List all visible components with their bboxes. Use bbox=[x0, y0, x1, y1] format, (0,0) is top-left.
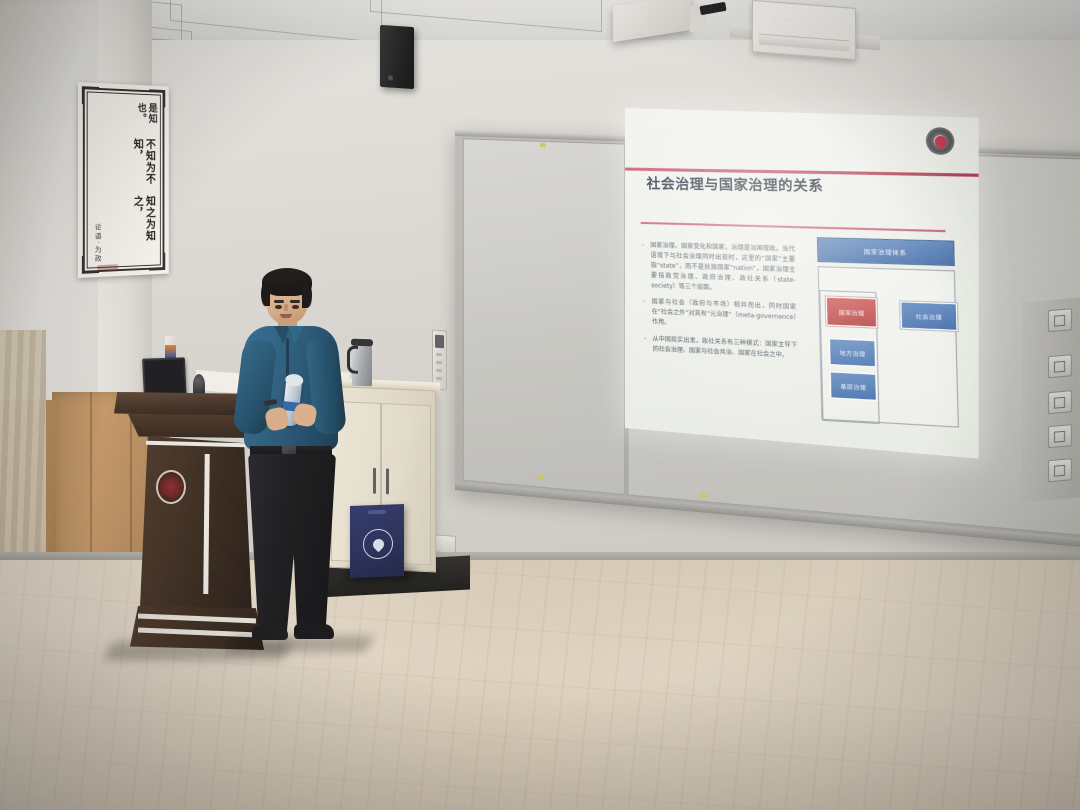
slide-bullet: 国家治理、国家变化和国家，治理是治国理政。当代语境下与社会治理同时出现时，这里的… bbox=[641, 241, 796, 296]
slide-bullet-list: 国家治理、国家变化和国家，治理是治国理政。当代语境下与社会治理同时出现时，这里的… bbox=[641, 235, 798, 369]
poster-seal bbox=[97, 264, 118, 271]
diagram-header-box: 国家治理体系 bbox=[817, 237, 955, 266]
wall-speaker bbox=[380, 25, 414, 89]
poster-line-3: 是知也。 bbox=[91, 101, 156, 136]
lecture-hall-photo: 知之为知之， 不知为不知， 是知也。 论语·为政 · · · · · 社会治理与… bbox=[0, 0, 1080, 810]
projected-slide: 社会治理与国家治理的关系 国家治理、国家变化和国家，治理是治国理政。当代语境下与… bbox=[625, 108, 979, 459]
eyebrow bbox=[290, 300, 300, 303]
diagram-box-grassroots-governance: 基层治理 bbox=[830, 371, 877, 401]
poster-corner-icon bbox=[149, 253, 165, 271]
poster-line-2: 不知为不知， bbox=[91, 137, 156, 193]
slide-bullet: 从中国现实出发，政社关系有三种模式：国家主导下的社会治理、国家与社会共治、国家在… bbox=[644, 334, 798, 361]
navy-tote-bag[interactable] bbox=[350, 504, 404, 578]
remote-button[interactable] bbox=[436, 377, 442, 380]
ac-vent bbox=[759, 33, 849, 51]
wall-air-conditioner: · · · · · bbox=[752, 0, 856, 60]
speaker-led-icon bbox=[388, 75, 393, 80]
shoe bbox=[252, 626, 288, 640]
control-panel-button[interactable] bbox=[1048, 308, 1072, 332]
whiteboard-panel-left[interactable] bbox=[463, 138, 625, 495]
hair-side bbox=[261, 282, 270, 306]
diagram-box-state-governance: 国家治理 bbox=[826, 296, 878, 327]
control-panel-button[interactable] bbox=[1048, 458, 1072, 482]
poster-attribution: 论语·为政 bbox=[93, 223, 103, 263]
wall-control-panel[interactable] bbox=[1022, 297, 1080, 502]
eye bbox=[292, 305, 299, 309]
shoe bbox=[294, 624, 334, 639]
whiteboard-magnet[interactable] bbox=[538, 475, 544, 480]
control-panel-button[interactable] bbox=[1048, 390, 1072, 414]
governance-diagram: 国家治理体系 国家治理 社会治理 地方治理 基层治理 bbox=[813, 237, 961, 428]
whiteboard-magnet[interactable] bbox=[700, 494, 706, 499]
slide-bullet: 国家与社会（政府与市场）相异而出，同时国家在“社会之外”对其有“元治理”（met… bbox=[643, 297, 797, 333]
nose bbox=[284, 304, 288, 311]
ac-brand-label: · · · · · bbox=[775, 17, 798, 25]
eye bbox=[275, 305, 282, 309]
tote-university-emblem-icon bbox=[363, 528, 393, 559]
presenter-trousers bbox=[248, 454, 336, 634]
bottle-label bbox=[165, 345, 176, 358]
whiteboard-magnet[interactable] bbox=[540, 143, 546, 147]
remote-button[interactable] bbox=[436, 353, 442, 356]
eyebrow bbox=[274, 300, 284, 303]
remote-button[interactable] bbox=[436, 361, 442, 364]
remote-display bbox=[435, 335, 444, 349]
control-panel-button[interactable] bbox=[1048, 424, 1072, 448]
hair-side bbox=[302, 282, 312, 308]
diagram-outer-frame: 国家治理 社会治理 地方治理 基层治理 bbox=[818, 266, 959, 428]
wall-remote-holder[interactable] bbox=[432, 329, 447, 390]
calligraphy-poster: 知之为知之， 不知为不知， 是知也。 论语·为政 bbox=[78, 82, 169, 278]
diagram-box-social-governance: 社会治理 bbox=[900, 301, 957, 331]
presenter bbox=[236, 268, 356, 648]
slide-title: 社会治理与国家治理的关系 bbox=[646, 173, 823, 196]
tote-handle bbox=[368, 510, 386, 515]
control-panel-button[interactable] bbox=[1048, 354, 1072, 378]
university-crest-logo bbox=[926, 127, 954, 155]
remote-button[interactable] bbox=[436, 369, 442, 372]
diagram-box-local-governance: 地方治理 bbox=[829, 338, 876, 367]
slide-accent-rule-bottom bbox=[641, 222, 946, 232]
